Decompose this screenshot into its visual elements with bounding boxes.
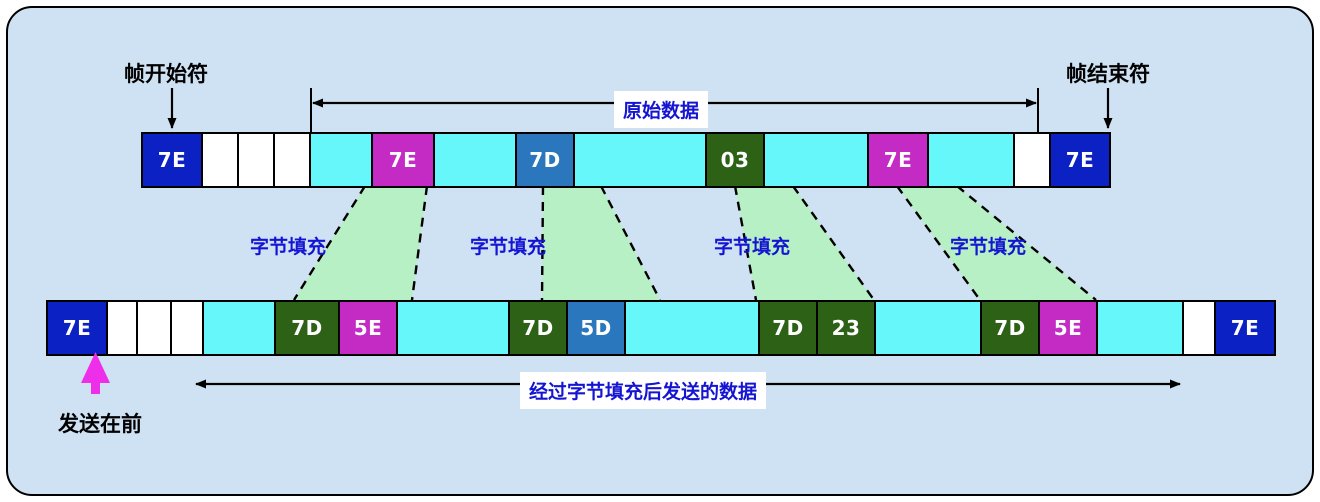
original-data-label: 原始数据 (614, 91, 708, 128)
byte-cell-empty (876, 302, 982, 354)
byte-cell-empty (203, 134, 239, 186)
byte-cell-empty (1098, 302, 1184, 354)
original-frame-row: 7E7E7D037E7E (141, 132, 1111, 188)
stuffed-data-label: 经过字节填充后发送的数据 (520, 372, 766, 409)
byte-cell-7E: 7E (373, 134, 435, 186)
byte-cell-7D: 7D (276, 302, 340, 354)
byte-cell-empty (1184, 302, 1216, 354)
byte-cell-empty (929, 134, 1015, 186)
byte-cell-empty (1015, 134, 1051, 186)
byte-cell-empty (398, 302, 510, 354)
send-first-label: 发送在前 (58, 408, 142, 438)
byte-cell-7D: 7D (517, 134, 575, 186)
byte-cell-empty (108, 302, 138, 354)
byte-cell-7E: 7E (48, 302, 108, 354)
byte-cell-7D: 7D (760, 302, 818, 354)
frame-end-label: 帧结束符 (1066, 58, 1150, 88)
diagram-canvas: 7E7E7D037E7E 7E7D5E7D5D7D237D5E7E (0, 0, 1320, 502)
byte-cell-23: 23 (818, 302, 876, 354)
stuffed-frame-row: 7E7D5E7D5D7D237D5E7E (46, 300, 1276, 356)
frame-start-label: 帧开始符 (124, 58, 208, 88)
byte-cell-7D: 7D (982, 302, 1040, 354)
byte-cell-7E: 7E (869, 134, 929, 186)
byte-cell-7E: 7E (1051, 134, 1109, 186)
byte-cell-empty (765, 134, 869, 186)
byte-cell-empty (239, 134, 275, 186)
byte-cell-empty (626, 302, 760, 354)
byte-stuffing-label-4: 字节填充 (950, 232, 1026, 259)
byte-cell-empty (172, 302, 204, 354)
byte-cell-empty (204, 302, 276, 354)
byte-cell-empty (575, 134, 707, 186)
byte-cell-empty (435, 134, 517, 186)
byte-cell-5E: 5E (340, 302, 398, 354)
byte-cell-empty (138, 302, 172, 354)
byte-stuffing-label-1: 字节填充 (250, 232, 326, 259)
byte-cell-7E: 7E (1216, 302, 1274, 354)
byte-stuffing-label-3: 字节填充 (714, 232, 790, 259)
byte-cell-empty (311, 134, 373, 186)
byte-cell-7D: 7D (510, 302, 568, 354)
byte-cell-7E: 7E (143, 134, 203, 186)
byte-cell-03: 03 (707, 134, 765, 186)
byte-cell-5D: 5D (568, 302, 626, 354)
byte-cell-empty (275, 134, 311, 186)
byte-stuffing-label-2: 字节填充 (470, 232, 546, 259)
byte-cell-5E: 5E (1040, 302, 1098, 354)
